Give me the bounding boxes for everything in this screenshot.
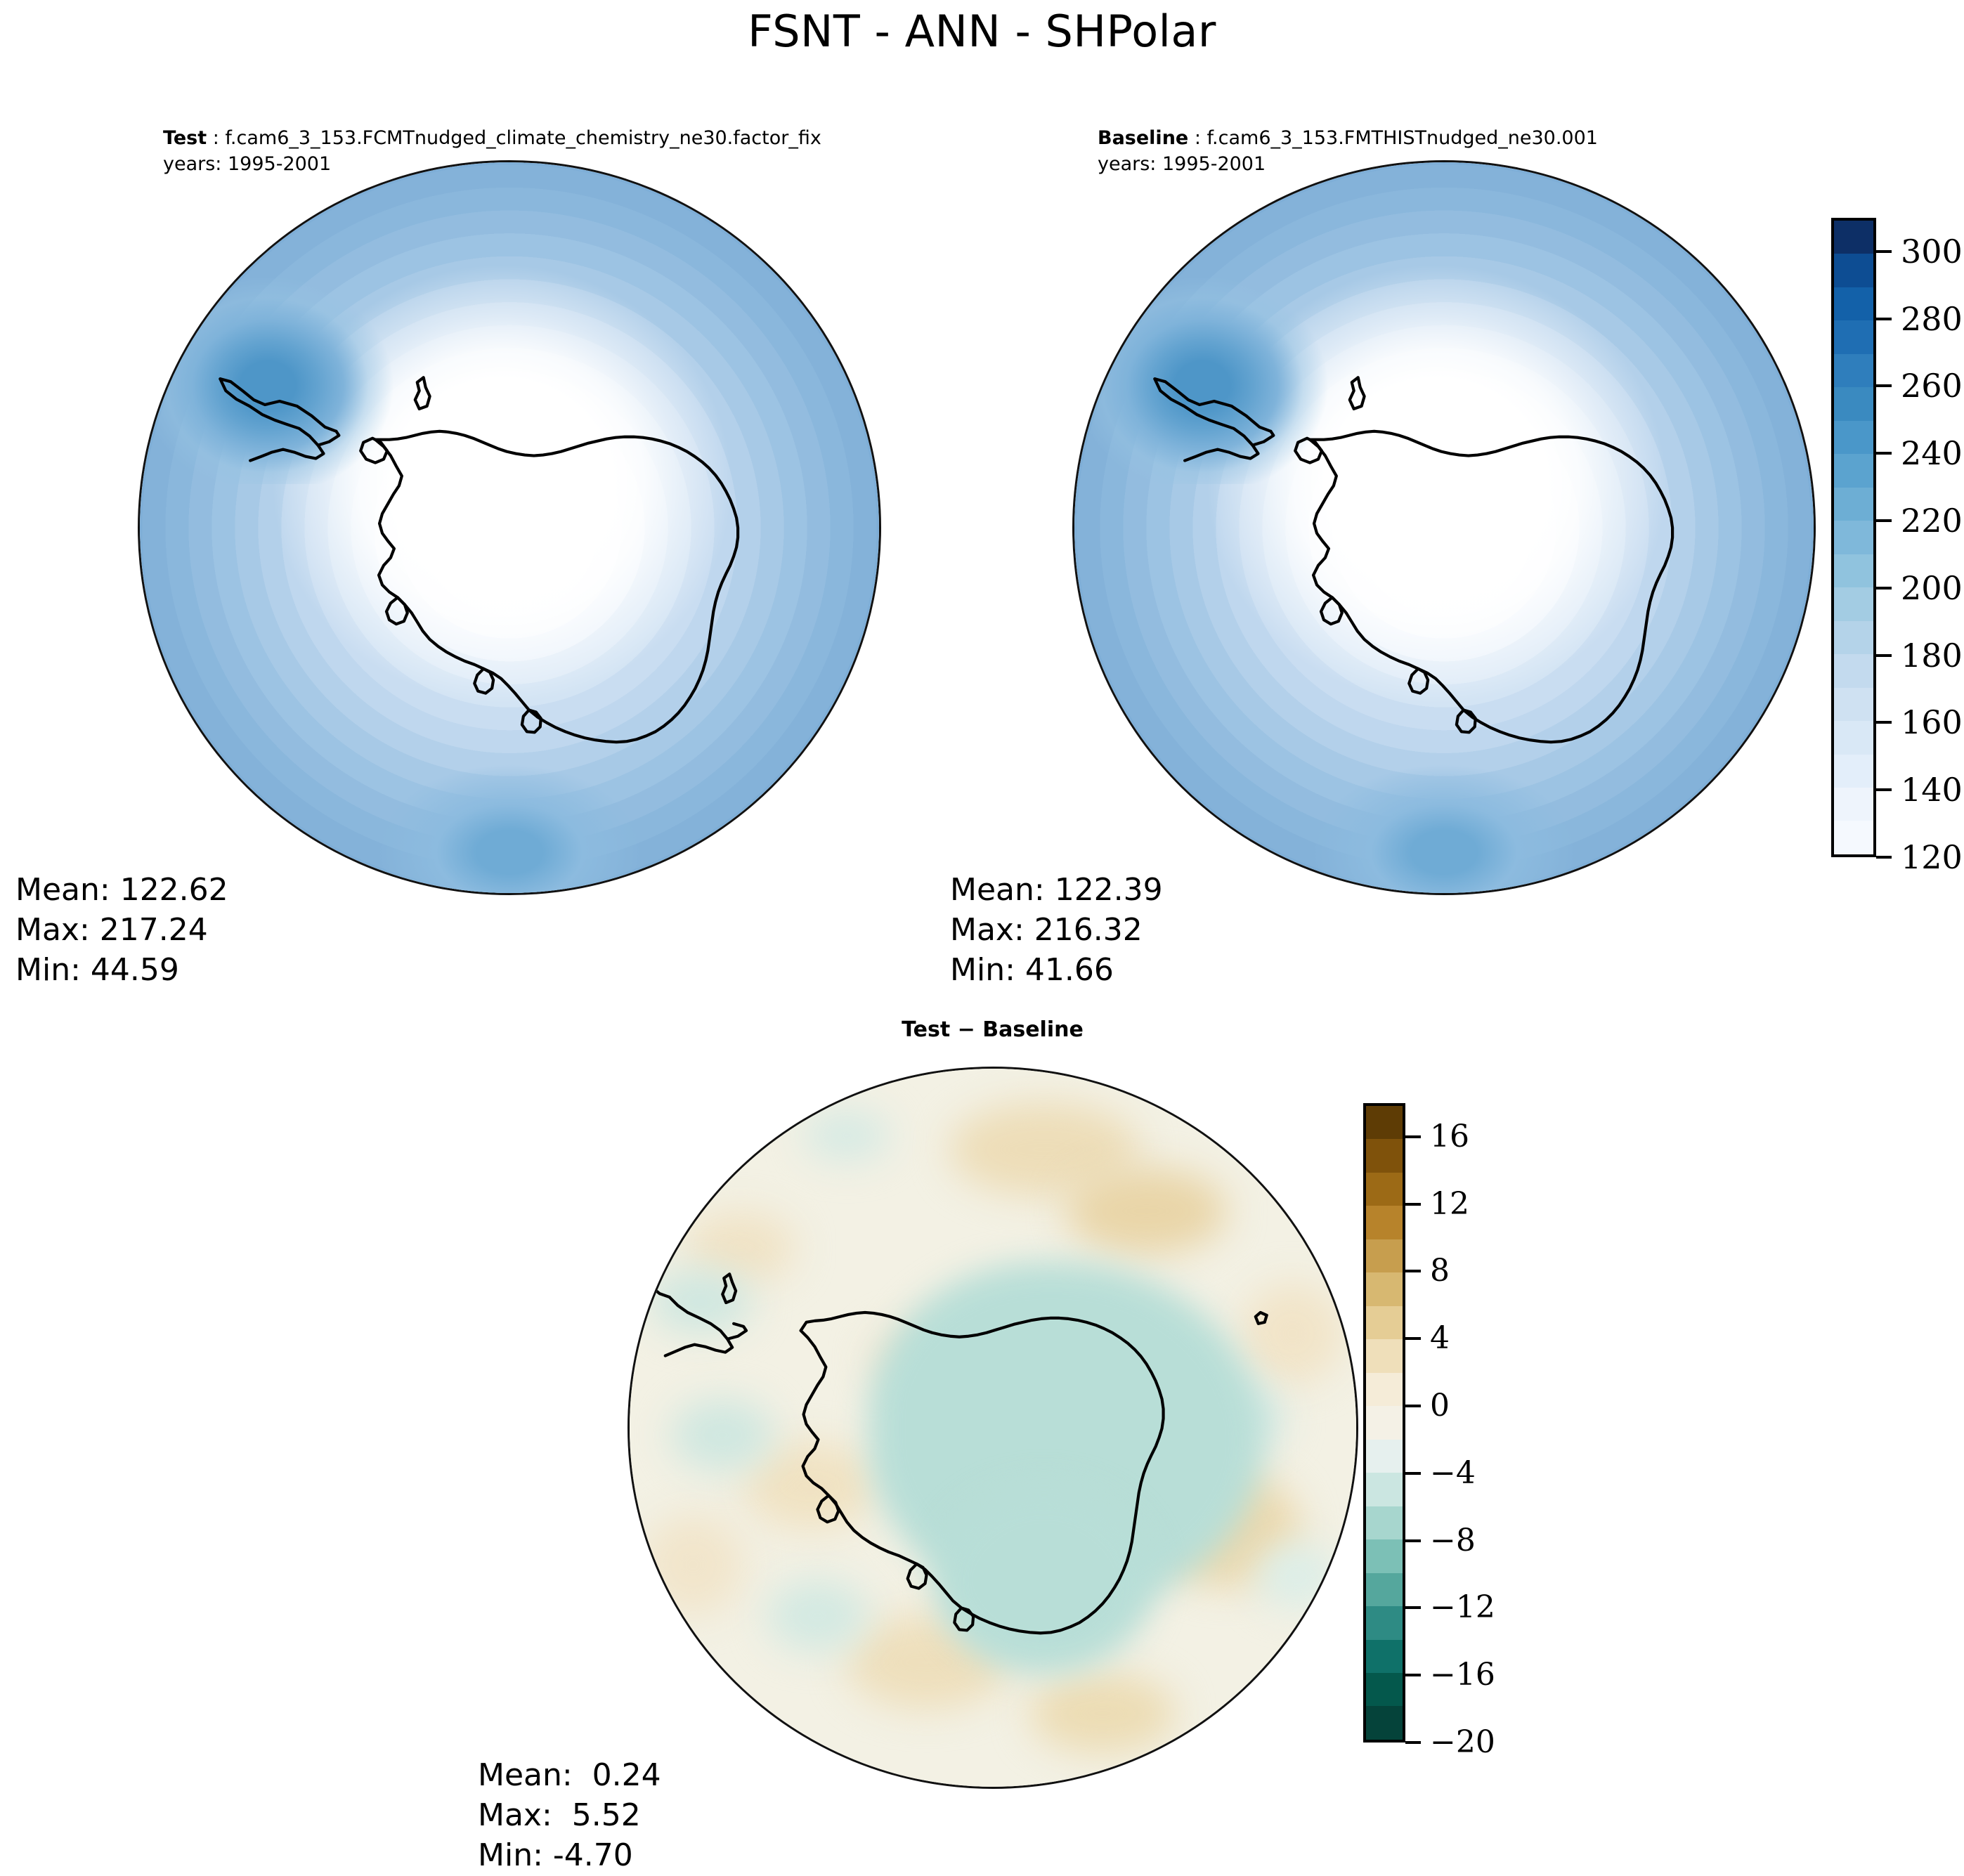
colorbar-swatch <box>1834 387 1873 420</box>
colorbar-swatch <box>1834 654 1873 687</box>
colorbar-tick: 220 <box>1876 504 1963 538</box>
colorbar-tick: 240 <box>1876 436 1963 470</box>
colorbar-swatch <box>1834 721 1873 754</box>
colorbar-swatch <box>1834 688 1873 721</box>
colorbar-swatch <box>1834 821 1873 854</box>
test-stats: Mean: 122.62 Max: 217.24 Min: 44.59 <box>15 870 228 991</box>
colorbar-swatch <box>1366 1640 1403 1673</box>
colorbar-swatch <box>1834 587 1873 620</box>
colorbar-tick: 4 <box>1405 1322 1450 1355</box>
colorbar-swatch <box>1366 1506 1403 1539</box>
tick-label: 8 <box>1430 1256 1450 1287</box>
colorbar-tick: −16 <box>1405 1658 1495 1692</box>
page-title: FSNT - ANN - SHPolar <box>0 6 1964 57</box>
tick-label: 200 <box>1901 572 1963 604</box>
colorbar-swatch <box>1366 1173 1403 1206</box>
test-case-name: f.cam6_3_153.FCMTnudged_climate_chemistr… <box>225 127 821 149</box>
tick-label: 160 <box>1901 706 1963 738</box>
colorbar-swatch <box>1366 1373 1403 1406</box>
tick-label: 120 <box>1901 841 1963 873</box>
tick-label: 260 <box>1901 370 1963 402</box>
tick-dash <box>1876 519 1892 522</box>
tick-dash <box>1405 1337 1421 1340</box>
colorbar-tick: 280 <box>1876 302 1963 336</box>
colorbar-tick: −20 <box>1405 1726 1495 1759</box>
colorbar-swatch <box>1834 221 1873 254</box>
tick-label: −8 <box>1430 1525 1476 1556</box>
colorbar-swatch <box>1834 488 1873 521</box>
tick-dash <box>1876 250 1892 253</box>
tick-dash <box>1876 452 1892 455</box>
tick-dash <box>1405 1270 1421 1272</box>
colorbar-tick: −12 <box>1405 1591 1495 1624</box>
colorbar-swatch <box>1834 421 1873 454</box>
difference-stats: Mean: 0.24 Max: 5.52 Min: -4.70 <box>478 1755 661 1876</box>
colorbar-swatch <box>1366 1440 1403 1473</box>
difference-panel-title: Test − Baseline <box>629 1017 1356 1042</box>
colorbar-swatch <box>1834 554 1873 587</box>
tick-dash <box>1405 1741 1421 1744</box>
colorbar-swatch <box>1834 788 1873 821</box>
colorbar-swatch <box>1366 1306 1403 1339</box>
colorbar-tick: 200 <box>1876 571 1963 605</box>
colorbar-swatch <box>1834 254 1873 287</box>
colorbar-swatch <box>1366 1139 1403 1172</box>
colorbar-swatch <box>1834 320 1873 353</box>
tick-label: 12 <box>1430 1189 1469 1220</box>
colorbar-swatch <box>1366 1473 1403 1506</box>
tick-label: 0 <box>1430 1390 1450 1421</box>
antarctica-coastline-baseline <box>1072 160 1812 891</box>
tick-label: 240 <box>1901 437 1963 469</box>
colorbar-tick: 180 <box>1876 639 1963 672</box>
tick-label: 280 <box>1901 303 1963 335</box>
colorbar-swatch <box>1366 1706 1403 1739</box>
colorbar-swatch <box>1366 1106 1403 1139</box>
tick-label: 220 <box>1901 504 1963 537</box>
map-test-fsnt[interactable] <box>138 160 881 895</box>
colorbar-swatch <box>1366 1406 1403 1439</box>
baseline-case-name: f.cam6_3_153.FMTHISTnudged_ne30.001 <box>1207 127 1598 149</box>
colorbar-swatch <box>1366 1206 1403 1239</box>
map-baseline-fsnt[interactable] <box>1072 160 1816 895</box>
colorbar-swatch <box>1834 454 1873 487</box>
tick-label: 16 <box>1430 1121 1469 1152</box>
map-difference-fsnt[interactable] <box>627 1067 1358 1789</box>
baseline-separator: : <box>1188 127 1207 149</box>
colorbar-tick: 120 <box>1876 840 1963 874</box>
colorbar-tick: 16 <box>1405 1120 1469 1154</box>
colorbar-swatch <box>1366 1573 1403 1606</box>
tick-dash <box>1405 1203 1421 1206</box>
colorbar-tick: 0 <box>1405 1389 1450 1423</box>
colorbar-tick: 12 <box>1405 1187 1469 1221</box>
tick-dash <box>1405 1135 1421 1138</box>
tick-label: 300 <box>1901 235 1963 268</box>
tick-label: −12 <box>1430 1592 1495 1623</box>
colorbar-swatch <box>1834 521 1873 554</box>
tick-label: −20 <box>1430 1727 1495 1758</box>
tick-dash <box>1876 384 1892 387</box>
tick-dash <box>1876 318 1892 320</box>
colorbar-difference[interactable] <box>1363 1103 1405 1743</box>
tick-dash <box>1876 654 1892 657</box>
colorbar-swatch <box>1834 354 1873 387</box>
tick-dash <box>1876 721 1892 724</box>
baseline-stats: Mean: 122.39 Max: 216.32 Min: 41.66 <box>950 870 1163 991</box>
antarctica-coastline-test <box>138 160 877 891</box>
colorbar-swatch <box>1366 1272 1403 1305</box>
colorbar-tick: 8 <box>1405 1254 1450 1288</box>
colorbar-tick: −4 <box>1405 1457 1476 1490</box>
colorbar-swatch <box>1366 1539 1403 1572</box>
colorbar-swatch <box>1834 755 1873 788</box>
tick-label: 140 <box>1901 774 1963 806</box>
colorbar-tick: −8 <box>1405 1524 1476 1558</box>
colorbar-tick: 260 <box>1876 369 1963 403</box>
tick-dash <box>1876 856 1892 859</box>
tick-dash <box>1405 1674 1421 1676</box>
tick-dash <box>1405 1405 1421 1407</box>
tick-dash <box>1405 1539 1421 1542</box>
test-separator: : <box>207 127 225 149</box>
colorbar-swatch <box>1834 287 1873 320</box>
tick-dash <box>1405 1606 1421 1609</box>
colorbar-swatch <box>1834 621 1873 654</box>
colorbar-tick: 160 <box>1876 705 1963 739</box>
tick-dash <box>1876 587 1892 589</box>
tick-label: −4 <box>1430 1458 1476 1489</box>
tick-dash <box>1405 1472 1421 1475</box>
test-label: Test <box>163 127 207 149</box>
colorbar-tick: 140 <box>1876 773 1963 807</box>
baseline-label: Baseline <box>1098 127 1188 149</box>
colorbar-swatch <box>1366 1339 1403 1372</box>
tick-label: 180 <box>1901 639 1963 672</box>
tick-dash <box>1876 788 1892 791</box>
colorbar-main[interactable] <box>1831 218 1876 857</box>
tick-label: −16 <box>1430 1660 1495 1691</box>
tick-label: 4 <box>1430 1323 1450 1354</box>
colorbar-swatch <box>1366 1673 1403 1706</box>
colorbar-tick: 300 <box>1876 235 1963 268</box>
colorbar-swatch <box>1366 1239 1403 1272</box>
antarctica-coastline-difference <box>627 1067 1354 1785</box>
colorbar-swatch <box>1366 1606 1403 1639</box>
